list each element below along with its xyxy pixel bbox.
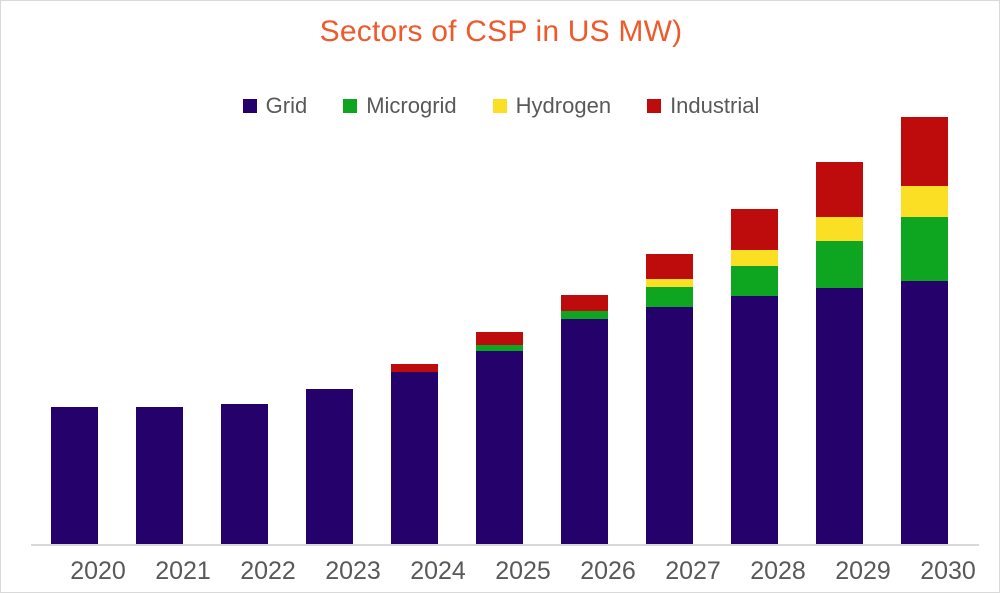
- bar-2020[interactable]: [51, 407, 98, 544]
- bar-segment-hydrogen-2030[interactable]: [901, 186, 948, 217]
- bar-segment-grid-2024[interactable]: [391, 372, 438, 544]
- bar-segment-industrial-2024[interactable]: [391, 364, 438, 372]
- bar-segment-grid-2030[interactable]: [901, 281, 948, 544]
- bar-segment-hydrogen-2027[interactable]: [646, 279, 693, 287]
- bar-segment-grid-2026[interactable]: [561, 319, 608, 544]
- bar-segment-microgrid-2026[interactable]: [561, 311, 608, 319]
- plot-area: 2020202120222023202420252026202720282029…: [1, 1, 1000, 593]
- bar-segment-industrial-2030[interactable]: [901, 117, 948, 186]
- bar-segment-grid-2022[interactable]: [221, 404, 268, 544]
- bar-2028[interactable]: [731, 209, 778, 544]
- bar-2021[interactable]: [136, 407, 183, 544]
- x-axis-line: [31, 544, 979, 546]
- bar-segment-industrial-2025[interactable]: [476, 332, 523, 345]
- bar-segment-grid-2020[interactable]: [51, 407, 98, 544]
- bar-segment-microgrid-2030[interactable]: [901, 217, 948, 281]
- bar-2027[interactable]: [646, 254, 693, 544]
- bar-segment-microgrid-2027[interactable]: [646, 287, 693, 307]
- bar-segment-microgrid-2029[interactable]: [816, 241, 863, 288]
- bar-2030[interactable]: [901, 117, 948, 544]
- bar-segment-grid-2023[interactable]: [306, 389, 353, 544]
- bar-2024[interactable]: [391, 364, 438, 544]
- bar-segment-grid-2027[interactable]: [646, 307, 693, 544]
- bar-2022[interactable]: [221, 404, 268, 544]
- x-tick-label-2030: 2030: [898, 557, 998, 586]
- bar-2026[interactable]: [561, 295, 608, 544]
- bar-2023[interactable]: [306, 389, 353, 544]
- bar-segment-microgrid-2028[interactable]: [731, 266, 778, 296]
- bar-segment-industrial-2027[interactable]: [646, 254, 693, 279]
- bar-2029[interactable]: [816, 162, 863, 544]
- bar-segment-industrial-2029[interactable]: [816, 162, 863, 217]
- bar-segment-industrial-2028[interactable]: [731, 209, 778, 250]
- bar-segment-grid-2029[interactable]: [816, 288, 863, 544]
- bar-2025[interactable]: [476, 332, 523, 544]
- bar-segment-grid-2021[interactable]: [136, 407, 183, 544]
- bar-segment-hydrogen-2028[interactable]: [731, 250, 778, 266]
- bar-segment-hydrogen-2029[interactable]: [816, 217, 863, 241]
- bar-segment-grid-2028[interactable]: [731, 296, 778, 544]
- chart-card: Sectors of CSP in US MW) GridMicrogridHy…: [0, 0, 1000, 593]
- bar-segment-industrial-2026[interactable]: [561, 295, 608, 311]
- bar-segment-grid-2025[interactable]: [476, 351, 523, 544]
